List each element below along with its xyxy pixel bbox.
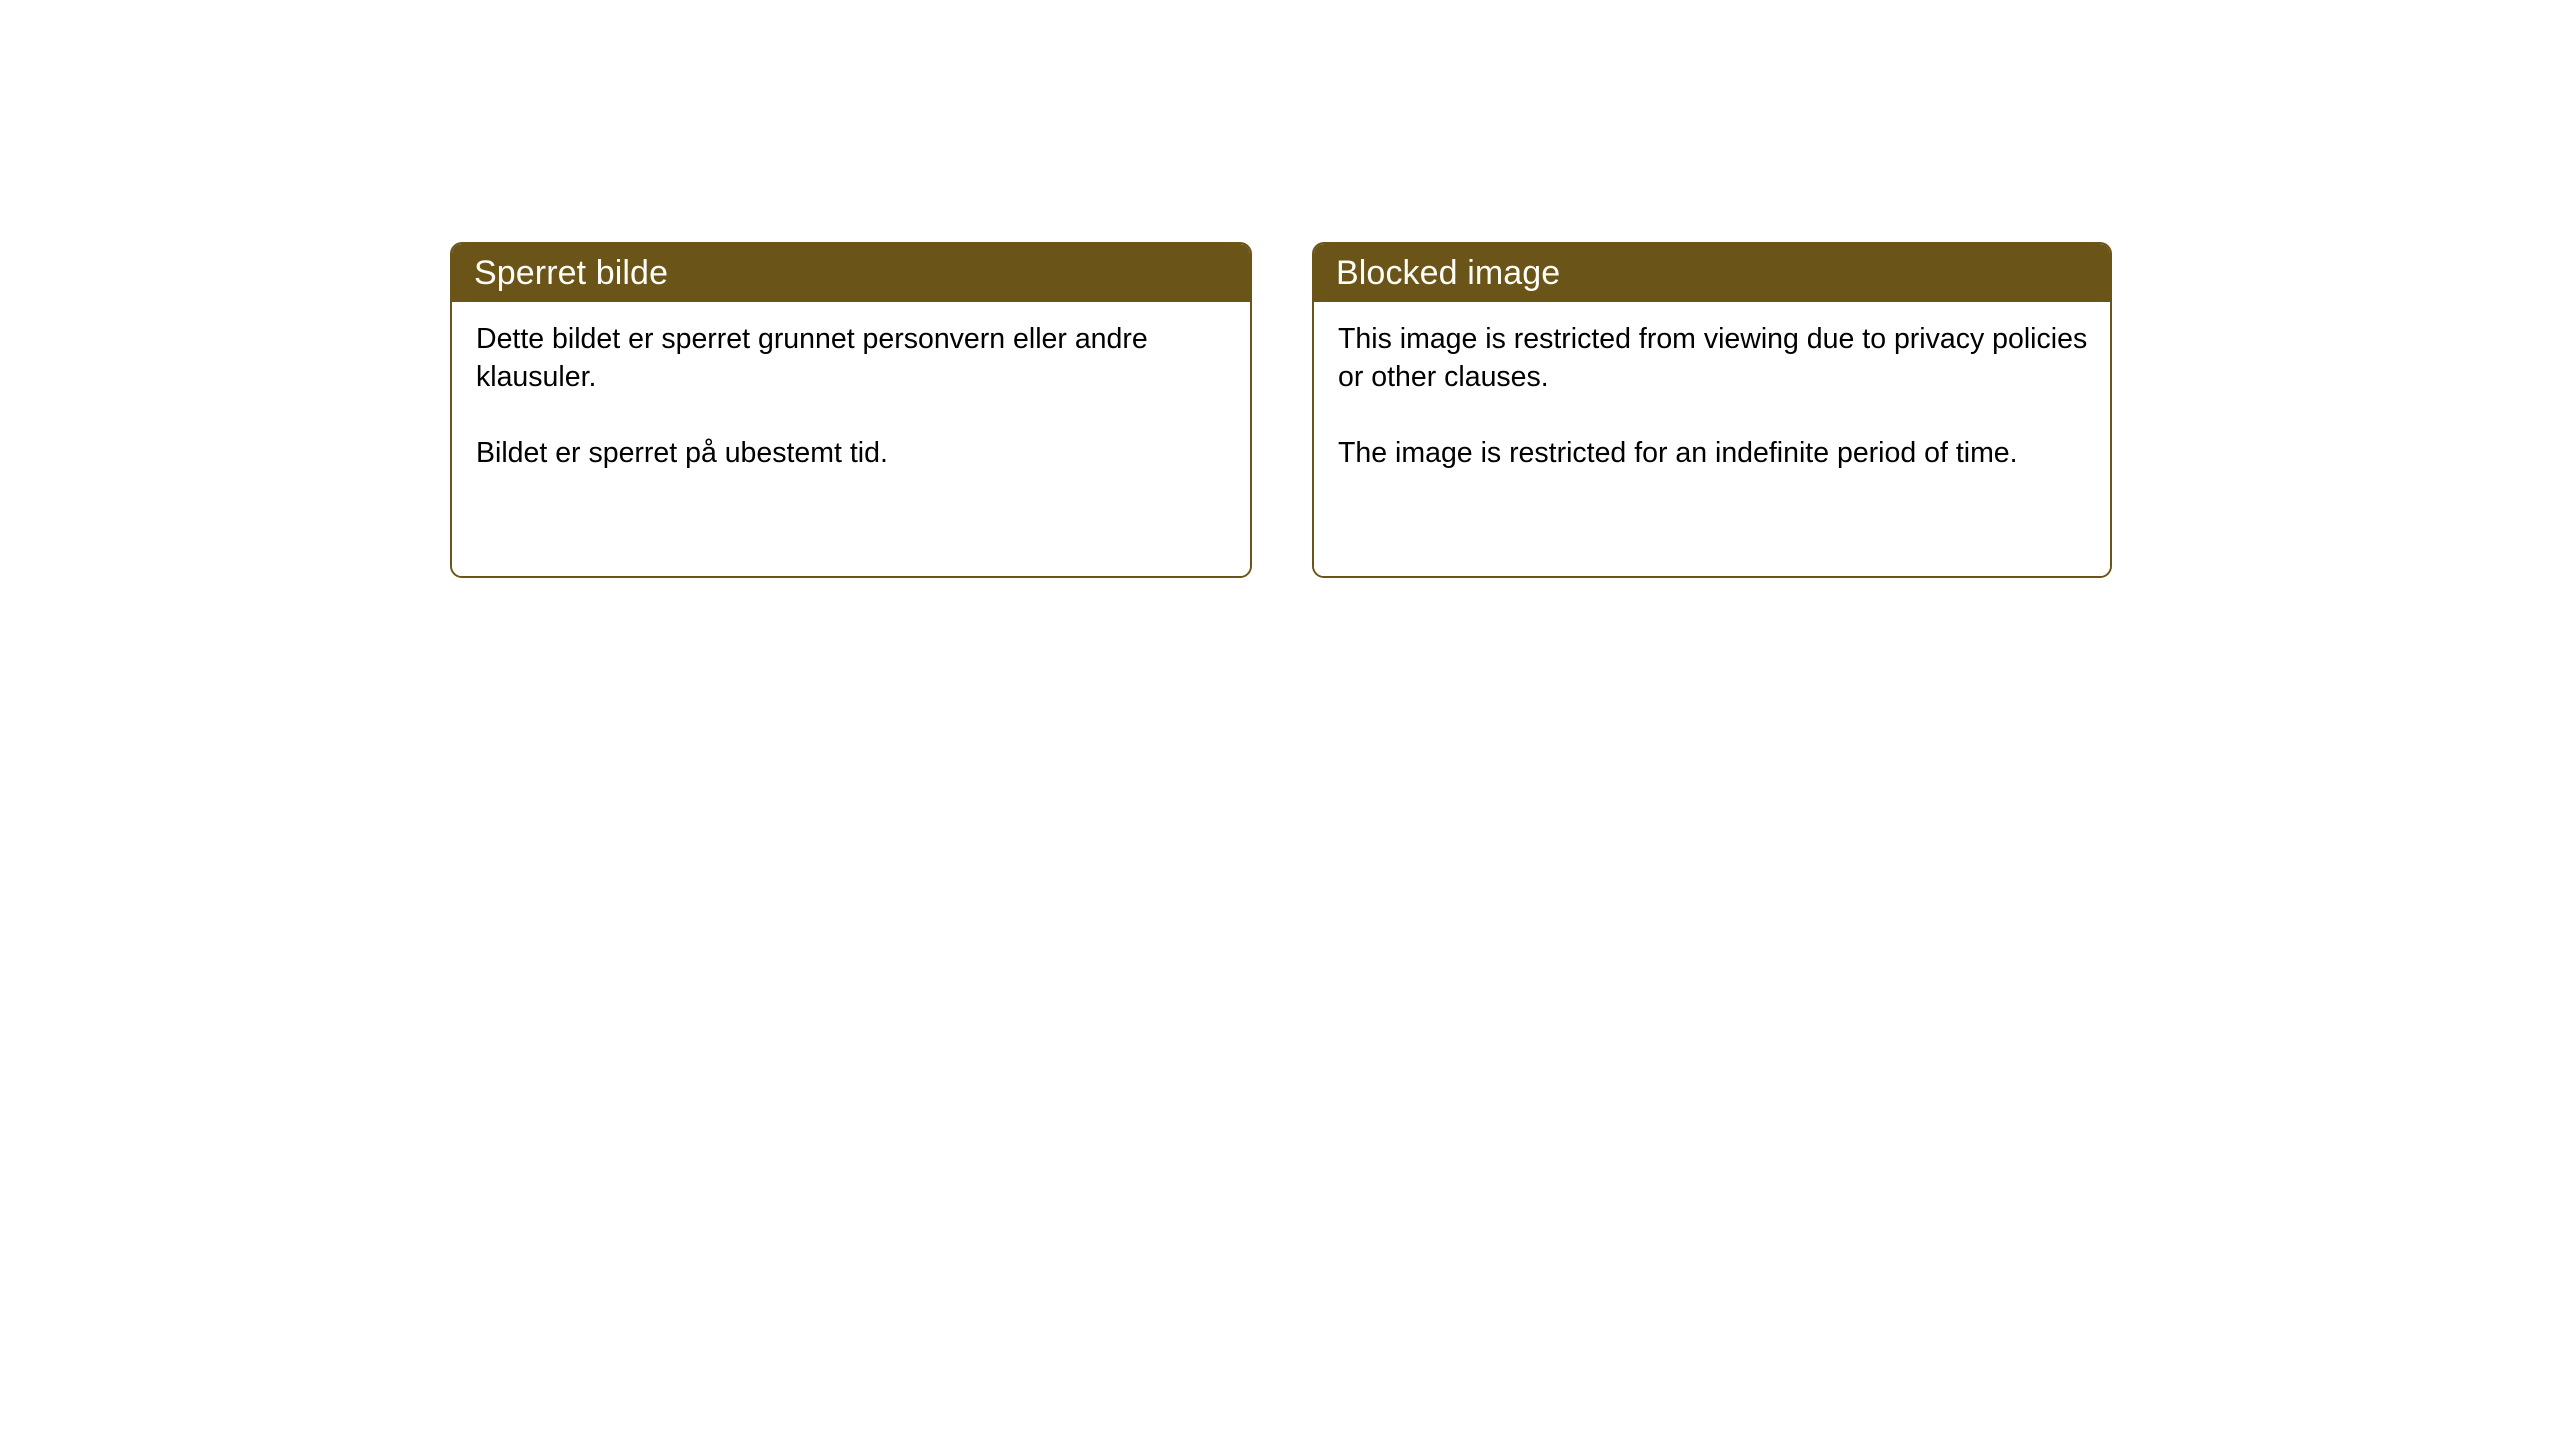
- card-paragraph-duration-english: The image is restricted for an indefinit…: [1338, 434, 2092, 472]
- blocked-image-notice-card-norwegian: Sperret bilde Dette bildet er sperret gr…: [450, 242, 1252, 578]
- page-canvas: Sperret bilde Dette bildet er sperret gr…: [0, 0, 2560, 1440]
- card-body-norwegian: Dette bildet er sperret grunnet personve…: [452, 302, 1250, 576]
- card-body-english: This image is restricted from viewing du…: [1314, 302, 2110, 576]
- blocked-image-notice-card-english: Blocked image This image is restricted f…: [1312, 242, 2112, 578]
- card-header-norwegian: Sperret bilde: [452, 244, 1250, 302]
- card-title-norwegian: Sperret bilde: [474, 253, 668, 293]
- card-paragraph-reason-norwegian: Dette bildet er sperret grunnet personve…: [476, 320, 1232, 396]
- card-paragraph-duration-norwegian: Bildet er sperret på ubestemt tid.: [476, 434, 1232, 472]
- card-paragraph-reason-english: This image is restricted from viewing du…: [1338, 320, 2092, 396]
- card-title-english: Blocked image: [1336, 253, 1560, 293]
- card-header-english: Blocked image: [1314, 244, 2110, 302]
